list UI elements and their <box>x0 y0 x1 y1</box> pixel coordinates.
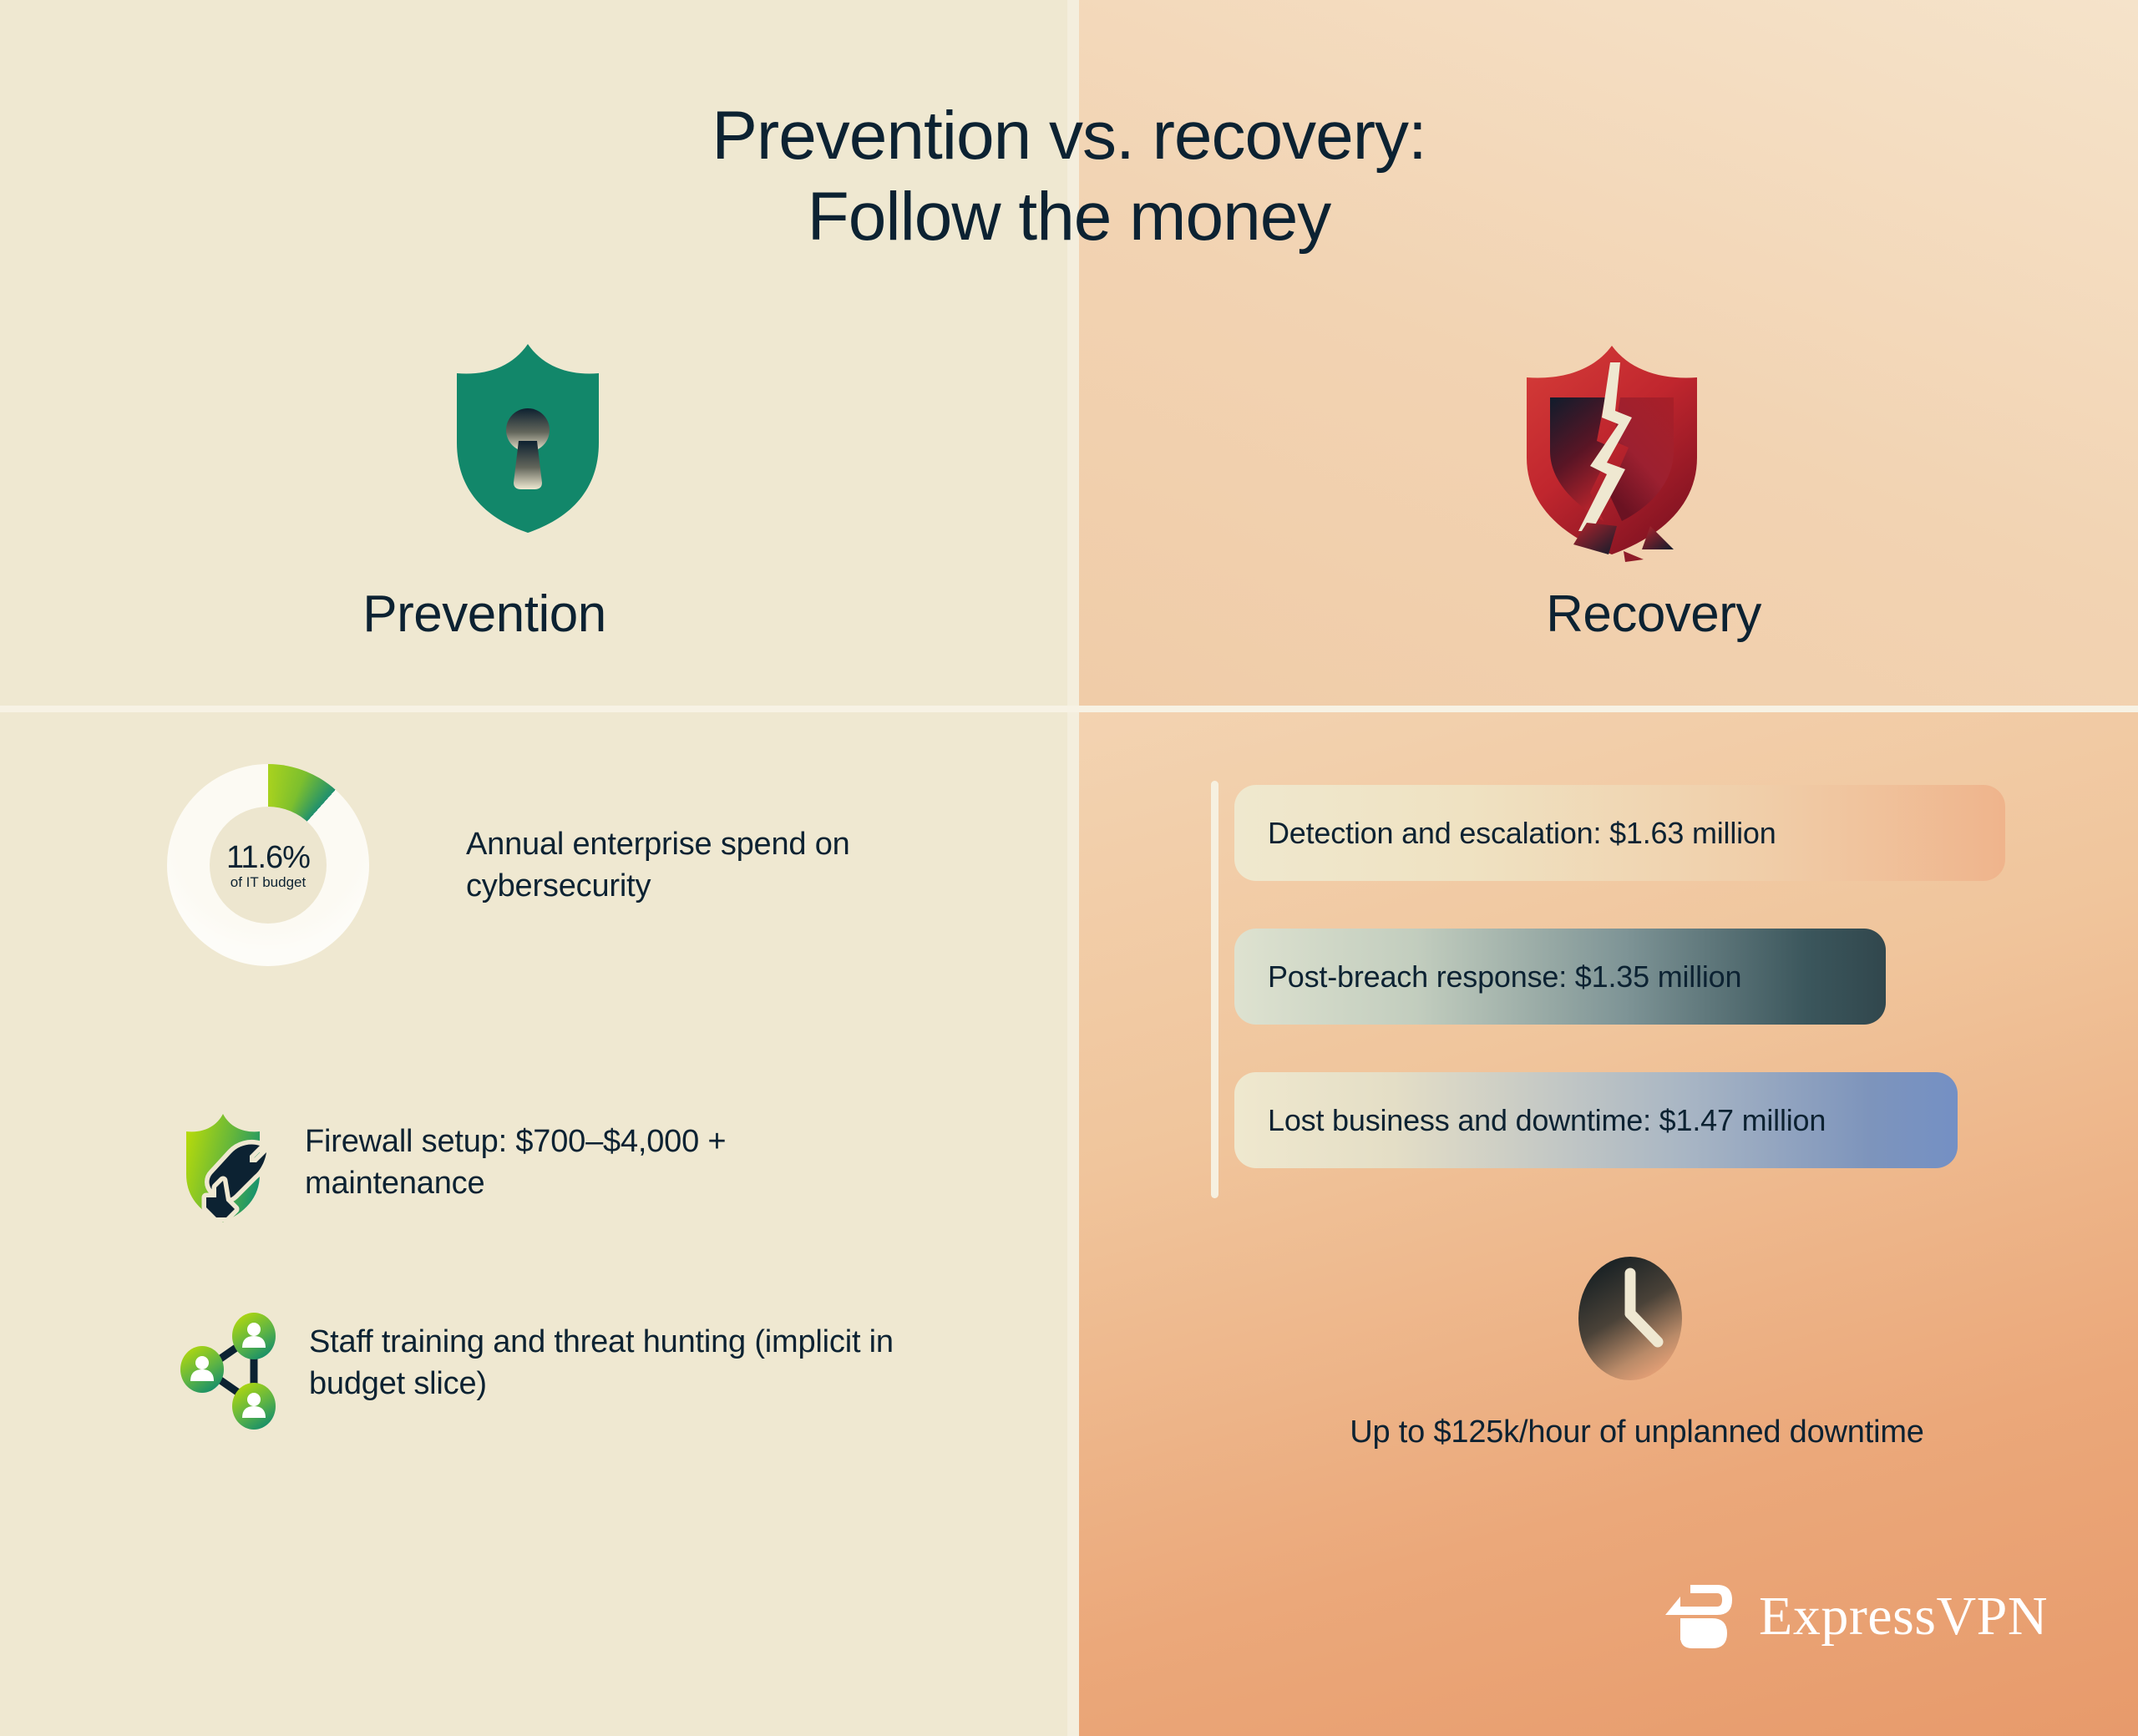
prevention-item-staff-label: Staff training and threat hunting (impli… <box>309 1321 910 1404</box>
prevention-item-staff: Staff training and threat hunting (impli… <box>174 1311 910 1436</box>
prevention-item-firewall: Firewall setup: $700–$4,000 + maintenanc… <box>180 1111 889 1234</box>
vertical-divider <box>1067 0 1079 1736</box>
recovery-bar-lost-business: Lost business and downtime: $1.47 millio… <box>1234 1072 1958 1168</box>
shield-lock-icon <box>440 342 616 534</box>
donut-percent-label: 11.6% <box>226 842 310 873</box>
column-heading-recovery: Recovery <box>1336 585 1971 644</box>
downtime-caption: Up to $125k/hour of unplanned downtime <box>1303 1411 1971 1454</box>
donut-sub-label: of IT budget <box>231 875 306 889</box>
clock-icon <box>1566 1248 1695 1394</box>
page-title: Prevention vs. recovery: Follow the mone… <box>0 96 2138 258</box>
people-network-icon <box>174 1311 292 1436</box>
horizontal-divider <box>0 706 2138 712</box>
donut-chart-icon: 11.6% of IT budget <box>167 764 369 966</box>
recovery-bar-detection: Detection and escalation: $1.63 million <box>1234 785 2005 881</box>
shield-wrench-icon <box>180 1111 286 1234</box>
prevention-item-firewall-label: Firewall setup: $700–$4,000 + maintenanc… <box>305 1121 889 1204</box>
recovery-bar-chart: Detection and escalation: $1.63 million … <box>1234 785 2070 1216</box>
expressvpn-logo: ExpressVPN <box>1662 1578 2048 1655</box>
broken-shield-icon <box>1503 341 1720 562</box>
recovery-bar-post-breach: Post-breach response: $1.35 million <box>1234 929 1886 1025</box>
bar-chart-axis-rail <box>1211 781 1218 1198</box>
expressvpn-wordmark: ExpressVPN <box>1759 1589 2048 1644</box>
donut-center: 11.6% of IT budget <box>210 807 327 924</box>
page-title-line-2: Follow the money <box>0 177 2138 258</box>
expressvpn-e-mark-icon <box>1662 1578 1739 1655</box>
page-title-line-1: Prevention vs. recovery: <box>712 98 1426 174</box>
column-heading-prevention: Prevention <box>184 585 785 644</box>
prevention-item-spend: 11.6% of IT budget Annual enterprise spe… <box>167 764 1001 966</box>
prevention-item-spend-label: Annual enterprise spend on cybersecurity <box>466 823 1001 907</box>
